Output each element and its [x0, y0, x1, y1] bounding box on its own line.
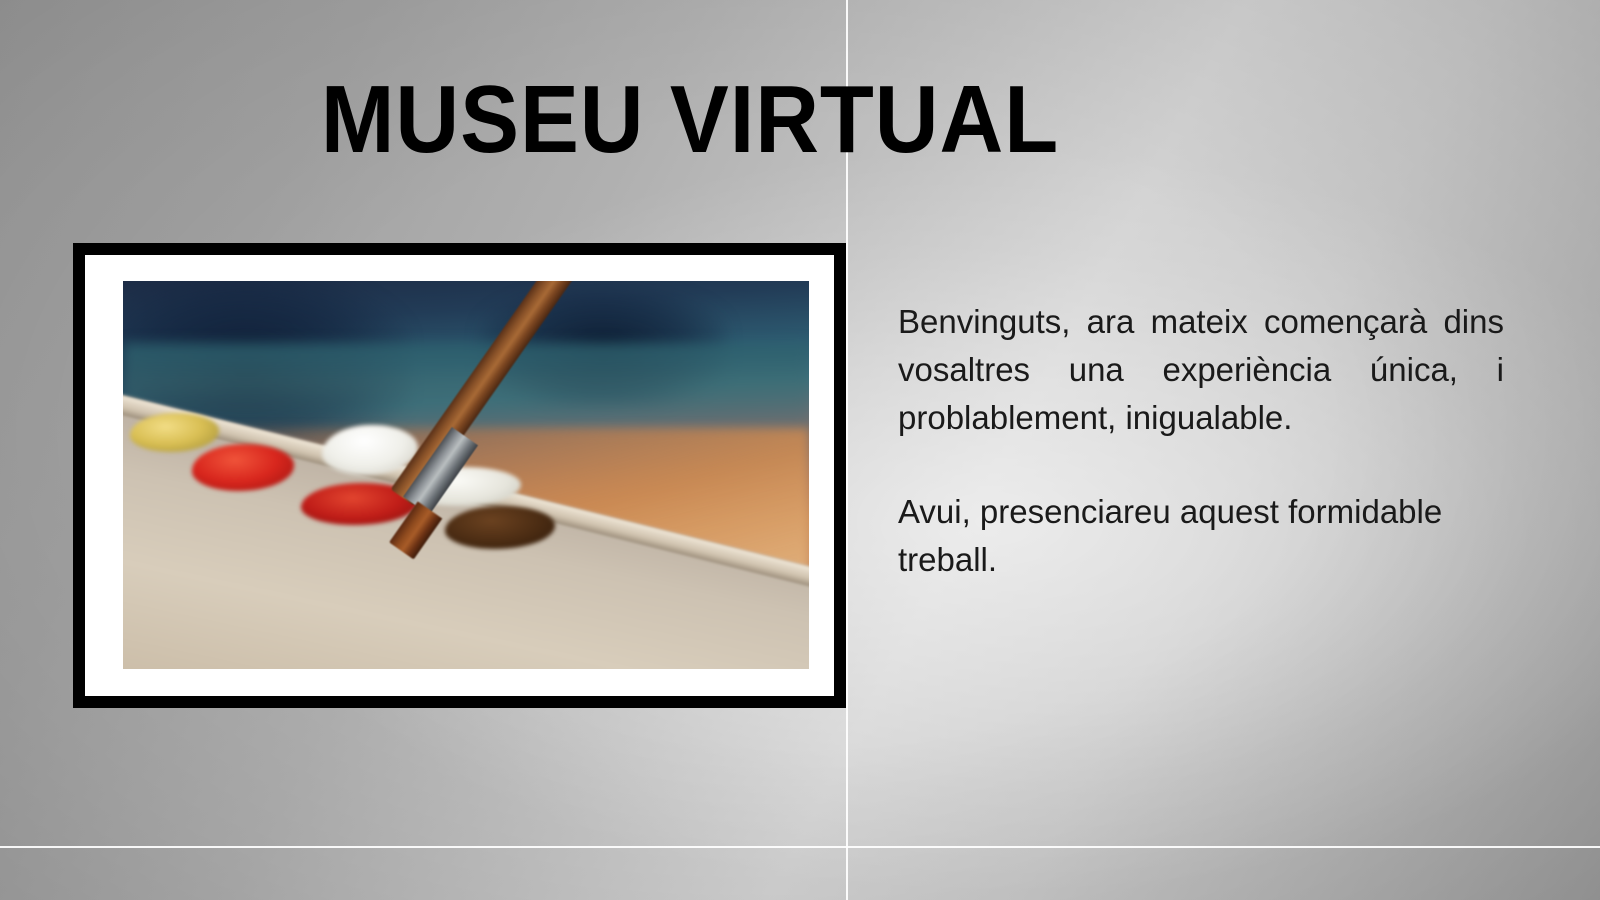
paragraph-spacer: [898, 442, 1504, 488]
slide-title: MUSEU VIRTUAL: [55, 72, 1325, 168]
body-paragraph-1: Benvinguts, ara mateix començarà dins vo…: [898, 298, 1504, 442]
horizontal-guide-line: [0, 846, 1600, 848]
picture-mat: [85, 255, 834, 696]
picture-frame[interactable]: [73, 243, 846, 708]
palette-photo: [123, 281, 809, 669]
body-text-block[interactable]: Benvinguts, ara mateix començarà dins vo…: [898, 298, 1504, 584]
slide-canvas: MUSEU VIRTUAL: [0, 0, 1600, 900]
body-paragraph-2: Avui, presenciareu aquest formidable tre…: [898, 488, 1504, 584]
